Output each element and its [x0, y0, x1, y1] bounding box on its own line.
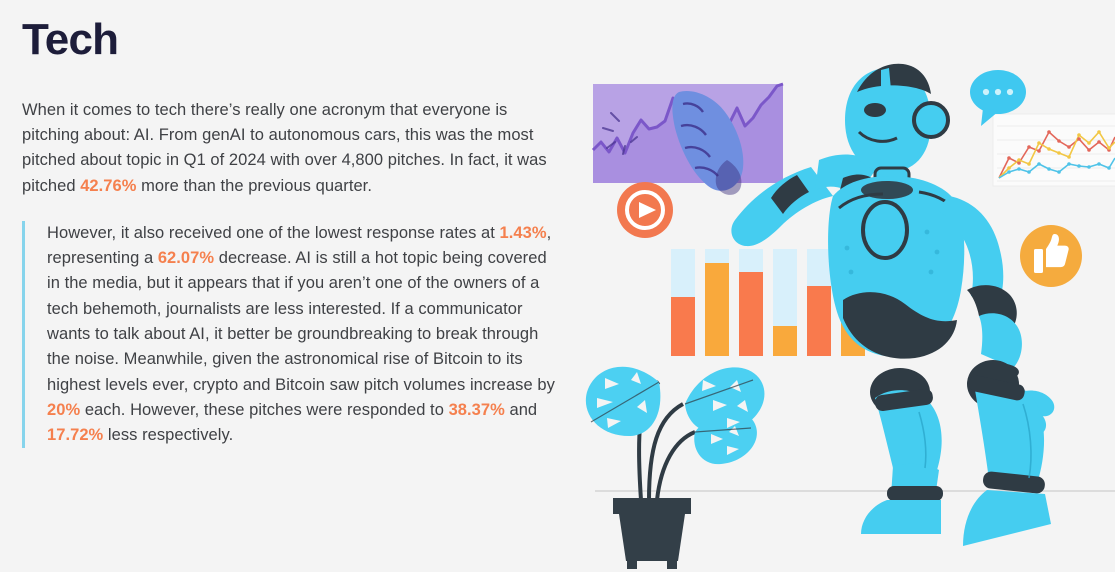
illustration-svg [575, 0, 1115, 572]
page-title: Tech [22, 14, 555, 66]
robot-left-ankle-band [887, 486, 943, 501]
play-icon [617, 182, 673, 238]
tech-report-page: Tech When it comes to tech there’s reall… [0, 0, 1115, 572]
bar-5 [807, 286, 831, 356]
robot-left-foot [861, 500, 941, 534]
robot-right-foot [963, 490, 1051, 546]
quote-text-segment-3: decrease. AI is still a hot topic being … [47, 249, 555, 393]
potted-monstera-plant-icon [586, 367, 765, 569]
stat-17-72: 17.72% [47, 426, 103, 444]
robot-ear [914, 103, 948, 137]
quote-text-segment-6: less respectively. [103, 426, 233, 444]
bar-3 [739, 272, 763, 356]
quote-text-segment-4: each. However, these pitches were respon… [80, 401, 448, 419]
bar-1 [671, 297, 695, 356]
intro-paragraph: When it comes to tech there’s really one… [22, 98, 552, 199]
robot-left-leg [861, 368, 943, 534]
quote-text-segment-1: However, it also received one of the low… [47, 224, 500, 242]
robot-chest-core [863, 202, 907, 258]
stat-38-37: 38.37% [449, 401, 505, 419]
bar-2 [705, 263, 729, 356]
stat-62-07: 62.07% [158, 249, 214, 267]
intro-text-segment-2: more than the previous quarter. [136, 177, 371, 195]
robot-right-leg [963, 360, 1051, 546]
quote-block: However, it also received one of the low… [22, 221, 555, 449]
bar-4 [773, 326, 797, 356]
line-chart-card-background [993, 114, 1115, 186]
quote-paragraph: However, it also received one of the low… [47, 221, 555, 449]
stat-1-43: 1.43% [500, 224, 547, 242]
plant-pot [613, 498, 691, 569]
text-column: Tech When it comes to tech there’s reall… [0, 0, 575, 572]
thumbs-up-icon [1020, 225, 1082, 287]
quote-text-segment-5: and [505, 401, 537, 419]
illustration-robot-analytics [575, 0, 1115, 572]
stat-20: 20% [47, 401, 80, 419]
robot-legs [861, 360, 1051, 546]
robot-eye [864, 103, 886, 117]
stat-42-76: 42.76% [80, 177, 136, 195]
line-chart-card [993, 114, 1115, 186]
